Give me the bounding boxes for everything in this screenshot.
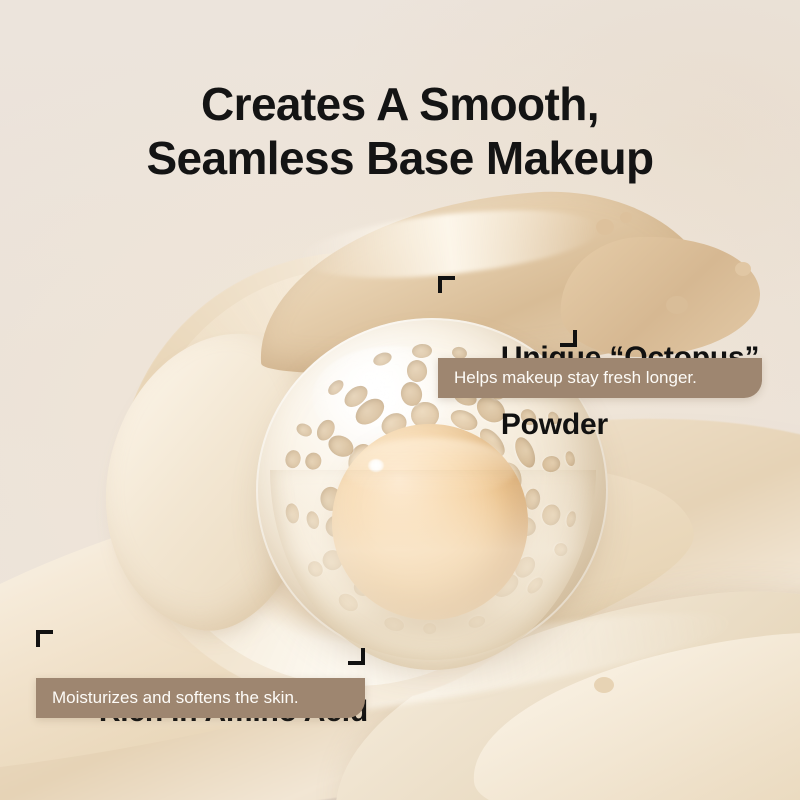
bracket-close-icon [560,330,577,347]
callout-amino-description: Moisturizes and softens the skin. [36,678,365,718]
callout-amino-acid: Rich In Amino Acid Moisturizes and softe… [36,628,396,796]
liquid-droplet [596,219,614,235]
callout-octopus-description: Helps makeup stay fresh longer. [438,358,762,398]
page-headline: Creates A Smooth, Seamless Base Makeup [0,77,800,186]
product-feature-poster: Creates A Smooth, Seamless Base Makeup U… [0,0,800,800]
liquid-droplet [594,677,614,693]
callout-octopus-title-line-2: Powder [501,408,608,441]
headline-line-2: Seamless Base Makeup [0,131,800,185]
bracket-close-icon [348,648,365,665]
headline-line-1: Creates A Smooth, [201,78,599,130]
bracket-open-icon [36,630,53,647]
callout-octopus-powder: Unique “Octopus” Powder Helps makeup sta… [438,274,778,509]
liquid-droplet [620,212,632,223]
bracket-open-icon [438,276,455,293]
